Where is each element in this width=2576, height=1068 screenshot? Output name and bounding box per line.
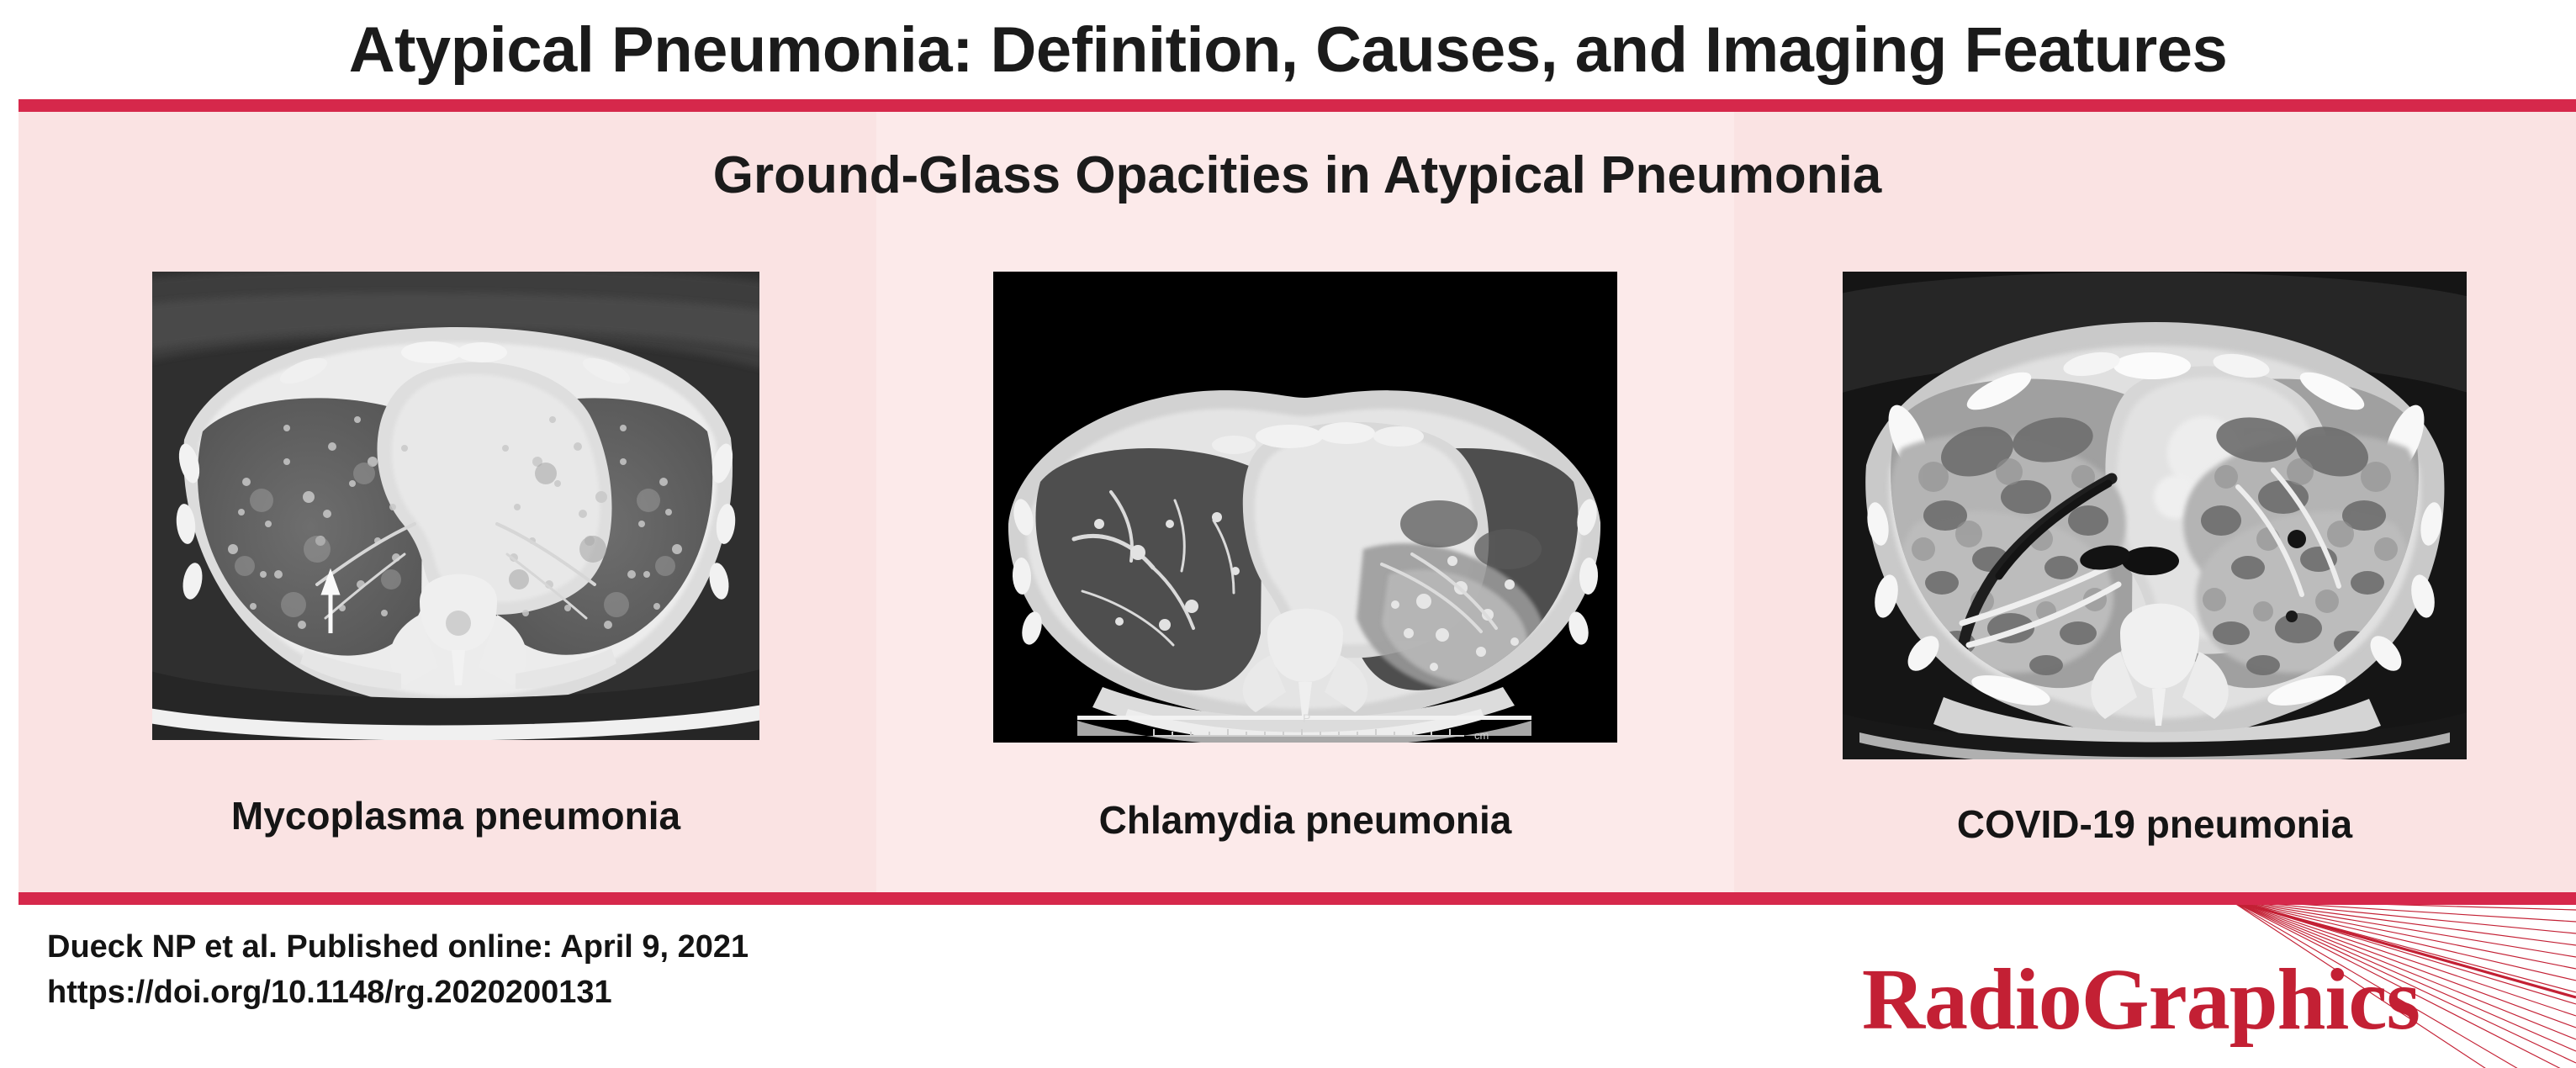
radiographics-logo[interactable]: RadioGraphics xyxy=(1819,905,2576,1068)
orientation-label: P xyxy=(1303,711,1310,725)
citation-line-2[interactable]: https://doi.org/10.1148/rg.2020200131 xyxy=(47,970,748,1016)
scale-label: cm xyxy=(1474,729,1489,742)
ct-scan-graphic: cm P xyxy=(993,272,1617,743)
ct-scan-graphic xyxy=(152,272,759,740)
citation-line-1: Dueck NP et al. Published online: April … xyxy=(47,925,748,970)
ct-scan-graphic xyxy=(1843,272,2467,759)
ct-image-covid xyxy=(1843,272,2467,759)
footer: Dueck NP et al. Published online: April … xyxy=(0,905,2576,1068)
ct-image-mycoplasma xyxy=(152,272,759,740)
panel-mycoplasma: Mycoplasma pneumonia xyxy=(77,272,834,860)
caption-chlamydia: Chlamydia pneumonia xyxy=(918,797,1692,843)
panel-chlamydia: cm P Chlamydia pneumonia xyxy=(918,272,1692,860)
caption-covid: COVID-19 pneumonia xyxy=(1776,801,2533,847)
panel-covid: COVID-19 pneumonia xyxy=(1776,272,2533,860)
figure-title: Atypical Pneumonia: Definition, Causes, … xyxy=(349,13,2228,87)
citation-block: Dueck NP et al. Published online: April … xyxy=(47,925,748,1016)
figure-body: Ground-Glass Opacities in Atypical Pneum… xyxy=(19,112,2576,892)
bottom-rule xyxy=(19,892,2576,905)
figure-slide: Atypical Pneumonia: Definition, Causes, … xyxy=(0,0,2576,1068)
top-rule xyxy=(19,99,2576,112)
caption-mycoplasma: Mycoplasma pneumonia xyxy=(77,793,834,838)
radiographics-wordmark: RadioGraphics xyxy=(1862,949,2420,1049)
ct-image-chlamydia: cm P xyxy=(993,272,1617,743)
title-bar: Atypical Pneumonia: Definition, Causes, … xyxy=(0,0,2576,99)
figure-subtitle: Ground-Glass Opacities in Atypical Pneum… xyxy=(19,145,2576,205)
